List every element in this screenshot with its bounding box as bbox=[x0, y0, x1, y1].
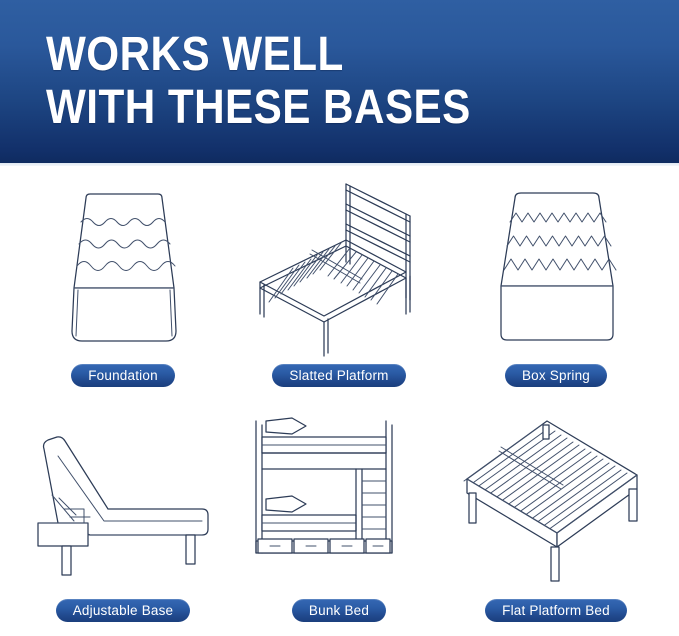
bases-grid: Foundation bbox=[0, 166, 679, 636]
base-label-wrap-slatted-platform: Slatted Platform bbox=[226, 362, 452, 387]
slatted-platform-bed-icon bbox=[234, 166, 444, 362]
base-label-box-spring[interactable]: Box Spring bbox=[505, 364, 607, 387]
works-well-with-these-bases-infographic: WORKS WELL WITH THESE BASES bbox=[0, 0, 679, 636]
base-label-wrap-foundation: Foundation bbox=[10, 362, 236, 387]
base-label-foundation[interactable]: Foundation bbox=[71, 364, 175, 387]
box-spring-icon bbox=[451, 166, 661, 362]
base-card-box-spring[interactable]: Box Spring bbox=[443, 166, 669, 401]
base-label-wrap-flat-platform-bed: Flat Platform Bed bbox=[443, 597, 669, 622]
bunk-bed-icon bbox=[234, 401, 444, 597]
base-card-slatted-platform[interactable]: Slatted Platform bbox=[226, 166, 452, 401]
foundation-mattress-icon bbox=[18, 166, 228, 362]
base-card-foundation[interactable]: Foundation bbox=[10, 166, 236, 401]
adjustable-base-icon bbox=[18, 401, 228, 597]
page-title: WORKS WELL WITH THESE BASES bbox=[46, 28, 606, 134]
base-card-adjustable-base[interactable]: Adjustable Base bbox=[10, 401, 236, 636]
base-label-adjustable-base[interactable]: Adjustable Base bbox=[56, 599, 191, 622]
base-label-wrap-box-spring: Box Spring bbox=[443, 362, 669, 387]
flat-platform-bed-icon bbox=[451, 401, 661, 597]
base-label-bunk-bed[interactable]: Bunk Bed bbox=[292, 599, 386, 622]
base-label-wrap-adjustable-base: Adjustable Base bbox=[10, 597, 236, 622]
base-card-bunk-bed[interactable]: Bunk Bed bbox=[226, 401, 452, 636]
base-label-wrap-bunk-bed: Bunk Bed bbox=[226, 597, 452, 622]
base-label-flat-platform-bed[interactable]: Flat Platform Bed bbox=[485, 599, 627, 622]
base-label-slatted-platform[interactable]: Slatted Platform bbox=[272, 364, 405, 387]
base-card-flat-platform-bed[interactable]: Flat Platform Bed bbox=[443, 401, 669, 636]
header-banner: WORKS WELL WITH THESE BASES bbox=[0, 0, 679, 163]
page-title-line-2: WITH THESE BASES bbox=[46, 81, 539, 134]
page-title-line-1: WORKS WELL bbox=[46, 28, 539, 81]
